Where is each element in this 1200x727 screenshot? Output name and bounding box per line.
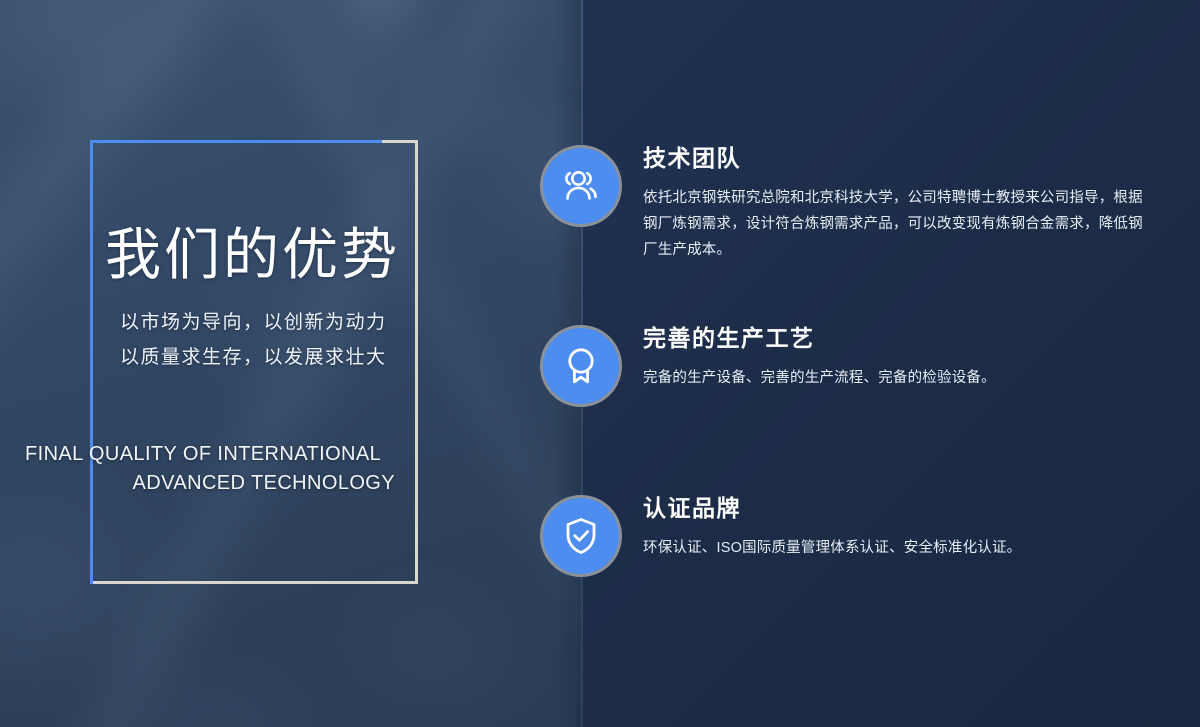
feature-description: 完备的生产设备、完善的生产流程、完备的检验设备。 <box>643 365 1143 391</box>
feature-text-block: 认证品牌 环保认证、ISO国际质量管理体系认证、安全标准化认证。 <box>643 495 1143 561</box>
award-medal-icon <box>540 325 622 407</box>
hero-english-tagline: FINAL QUALITY OF INTERNATIONAL ADVANCED … <box>25 440 395 498</box>
feature-title: 完善的生产工艺 <box>643 325 1143 353</box>
hero-english-line-2: ADVANCED TECHNOLOGY <box>25 469 395 498</box>
feature-text-block: 技术团队 依托北京钢铁研究总院和北京科技大学，公司特聘博士教授来公司指导，根据钢… <box>643 145 1143 263</box>
hero-subtitle-line-2: 以质量求生存，以发展求壮大 <box>120 340 420 375</box>
feature-title: 认证品牌 <box>643 495 1143 523</box>
left-hero-panel: 我们的优势 以市场为导向，以创新为动力 以质量求生存，以发展求壮大 FINAL … <box>0 0 581 727</box>
page-title: 我们的优势 <box>105 224 425 287</box>
frame-top-cream-segment <box>382 140 418 143</box>
hero-subtitle-line-1: 以市场为导向，以创新为动力 <box>120 305 420 340</box>
feature-text-block: 完善的生产工艺 完备的生产设备、完善的生产流程、完备的检验设备。 <box>643 325 1143 391</box>
feature-description: 依托北京钢铁研究总院和北京科技大学，公司特聘博士教授来公司指导，根据钢厂炼钢需求… <box>643 185 1143 263</box>
frame-left-border <box>90 140 93 584</box>
frame-bottom-border <box>90 581 418 584</box>
frame-top-blue-segment <box>90 140 382 143</box>
advantages-banner: 我们的优势 以市场为导向，以创新为动力 以质量求生存，以发展求壮大 FINAL … <box>0 0 1200 727</box>
feature-description: 环保认证、ISO国际质量管理体系认证、安全标准化认证。 <box>643 535 1143 561</box>
team-people-icon <box>540 145 622 227</box>
feature-title: 技术团队 <box>643 145 1143 173</box>
hero-english-line-1: FINAL QUALITY OF INTERNATIONAL <box>25 440 395 469</box>
hero-subtitle: 以市场为导向，以创新为动力 以质量求生存，以发展求壮大 <box>120 305 420 375</box>
shield-check-icon <box>540 495 622 577</box>
